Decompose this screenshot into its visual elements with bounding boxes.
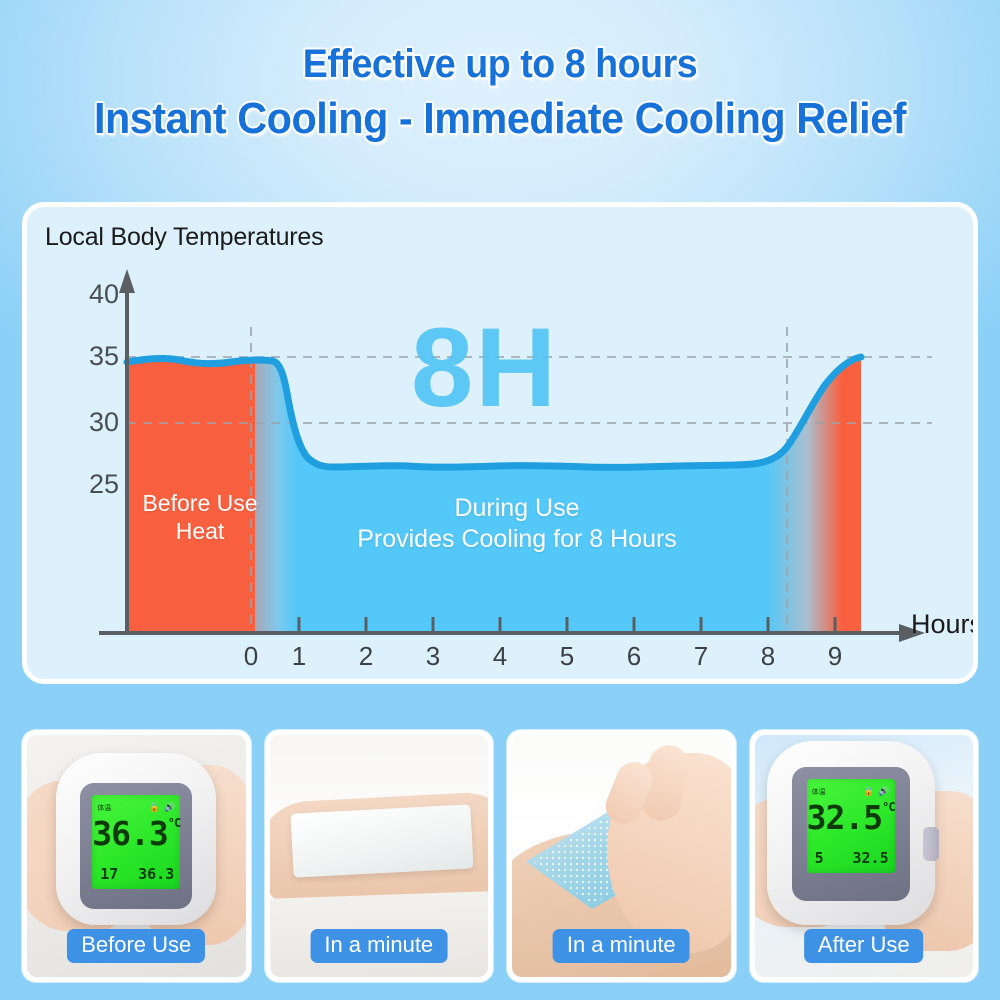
lcd-memory-index-after: 5: [815, 849, 824, 867]
lcd-unit-after: °C: [882, 800, 894, 814]
x-tick-label-2: 2: [351, 641, 381, 672]
y-tick-label-25: 25: [61, 469, 119, 500]
y-tick-label-35: 35: [61, 341, 119, 372]
lock-icon: 🔒: [149, 803, 160, 813]
lcd-temperature-before: 36.3: [92, 814, 167, 853]
region-label-before-use: Before Use Heat: [125, 489, 275, 545]
lcd-memory-value-before: 36.3: [138, 865, 174, 883]
x-axis-title: Hours: [911, 609, 978, 640]
watermark-8h: 8H: [411, 303, 558, 432]
x-tick-label-7: 7: [686, 641, 716, 672]
lcd-memory-value-after: 32.5: [853, 849, 889, 867]
x-tick-label-0: 0: [236, 641, 266, 672]
region-label-before-use-line1: Before Use: [125, 489, 275, 517]
photo-badge-after-use: After Use: [804, 929, 924, 963]
y-tick-label-30: 30: [61, 407, 119, 438]
lcd-mode-label-before: 体温: [97, 803, 111, 813]
region-label-before-use-line2: Heat: [125, 517, 275, 545]
lcd-temperature-after: 32.5: [807, 798, 882, 837]
lock-icon: 🔒: [863, 787, 874, 797]
region-label-during-use: During Use Provides Cooling for 8 Hours: [307, 493, 727, 554]
lcd-display-after: 体温 🔒 🔊 32.5°C 5 32.5: [807, 779, 895, 873]
speaker-icon: 🔊: [164, 803, 175, 813]
y-axis-arrow: [119, 269, 135, 293]
region-label-during-use-line2: Provides Cooling for 8 Hours: [307, 524, 727, 555]
x-tick-label-8: 8: [753, 641, 783, 672]
x-tick-label-1: 1: [284, 641, 314, 672]
temperature-area-chart: [27, 207, 973, 679]
lcd-display-before: 体温 🔒 🔊 36.3°C 17 36.3: [92, 795, 180, 889]
photo-card-before-use[interactable]: 体温 🔒 🔊 36.3°C 17 36.3: [22, 730, 251, 982]
photo-badge-before-use: Before Use: [67, 929, 205, 963]
x-tick-label-4: 4: [485, 641, 515, 672]
photo-strip: 体温 🔒 🔊 36.3°C 17 36.3: [22, 730, 978, 982]
chart-filled-area: [127, 207, 863, 679]
speaker-icon: 🔊: [878, 787, 889, 797]
photo-badge-in-a-minute-2: In a minute: [553, 929, 690, 963]
x-tick-label-6: 6: [619, 641, 649, 672]
lcd-unit-before: °C: [168, 816, 180, 830]
y-tick-label-40: 40: [61, 279, 119, 310]
photo-card-patch-applied[interactable]: In a minute: [265, 730, 494, 982]
chart-panel: Local Body Temperatures: [22, 202, 978, 684]
region-label-during-use-line1: During Use: [307, 493, 727, 524]
headline-line-2: Instant Cooling - Immediate Cooling Reli…: [30, 90, 970, 148]
x-tick-label-3: 3: [418, 641, 448, 672]
x-tick-label-5: 5: [552, 641, 582, 672]
headline-block: Effective up to 8 hours Instant Cooling …: [0, 38, 1000, 148]
photo-card-peeling-gel[interactable]: In a minute: [507, 730, 736, 982]
lcd-memory-index-before: 17: [100, 865, 118, 883]
x-tick-label-9: 9: [820, 641, 850, 672]
photo-badge-in-a-minute-1: In a minute: [310, 929, 447, 963]
lcd-mode-label-after: 体温: [812, 787, 826, 797]
headline-line-1: Effective up to 8 hours: [30, 38, 970, 90]
photo-card-after-use[interactable]: 体温 🔒 🔊 32.5°C 5 32.5: [750, 730, 979, 982]
